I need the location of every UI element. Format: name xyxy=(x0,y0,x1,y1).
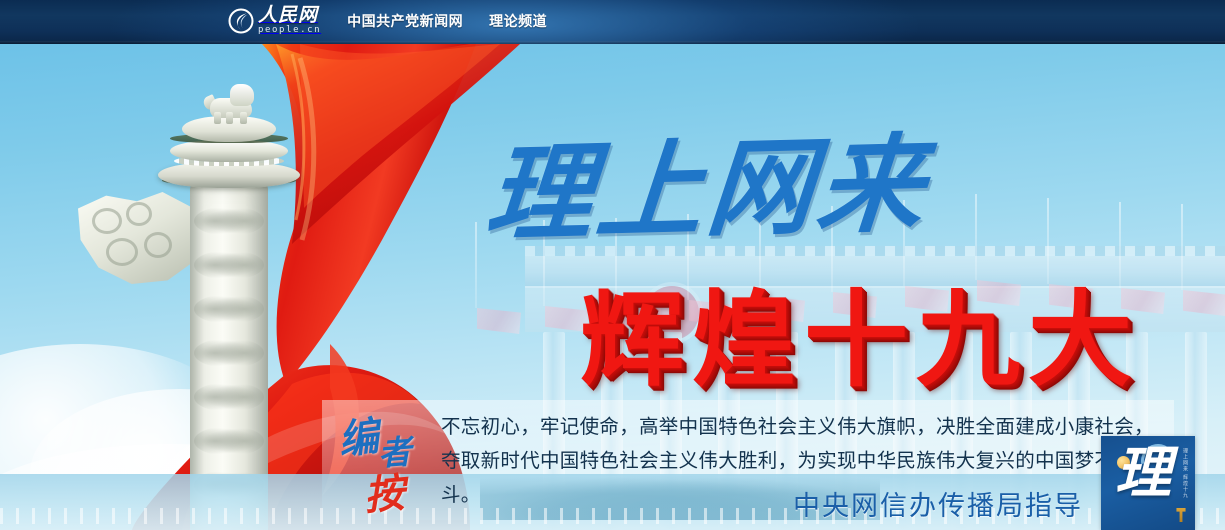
hero-stage: 理上网来 辉煌十九大 编 者 按 不忘初心，牢记使命，高举中国特色社会主义伟大旗… xyxy=(0,44,1225,530)
stamp-char-bian: 编 xyxy=(335,404,382,466)
site-logo[interactable]: 人民网 people.cn xyxy=(228,0,321,44)
people-cn-swoosh-icon xyxy=(228,8,254,34)
primary-nav: 中国共产党新闻网 理论频道 xyxy=(347,11,547,33)
site-header-bar: 人民网 people.cn 中国共产党新闻网 理论频道 xyxy=(0,0,1225,44)
stamp-char-an: 按 xyxy=(362,460,407,521)
theory-column-logo[interactable]: 理 理上网来 辉煌十九大 xyxy=(1101,436,1195,530)
stone-lion-icon xyxy=(204,84,256,124)
cloud-board-ornament xyxy=(78,192,206,284)
nav-link-theory-channel[interactable]: 理论频道 xyxy=(489,11,547,31)
hero-title-primary: 理上网来 xyxy=(482,129,932,252)
editor-note-stamp: 编 者 按 xyxy=(338,402,434,518)
nav-link-cpc-news[interactable]: 中国共产党新闻网 xyxy=(347,11,463,31)
header-content: 人民网 people.cn 中国共产党新闻网 理论频道 xyxy=(228,0,547,44)
logo-text-en: people.cn xyxy=(258,25,321,36)
pillar-plate-upper xyxy=(170,140,288,162)
logo-side-text: 理上网来 辉煌十九大 xyxy=(1181,448,1189,504)
logo-wordmark: 人民网 people.cn xyxy=(258,5,321,36)
logo-glyph-li: 理 xyxy=(1115,444,1171,504)
hero-title-secondary: 辉煌十九大 xyxy=(580,284,1140,396)
guidance-credit: 中央网信办传播局指导 xyxy=(793,490,1083,524)
logo-text-cn: 人民网 xyxy=(258,5,318,25)
logo-seal-icon xyxy=(1175,508,1187,522)
banner-root: 人民网 people.cn 中国共产党新闻网 理论频道 xyxy=(0,0,1225,530)
